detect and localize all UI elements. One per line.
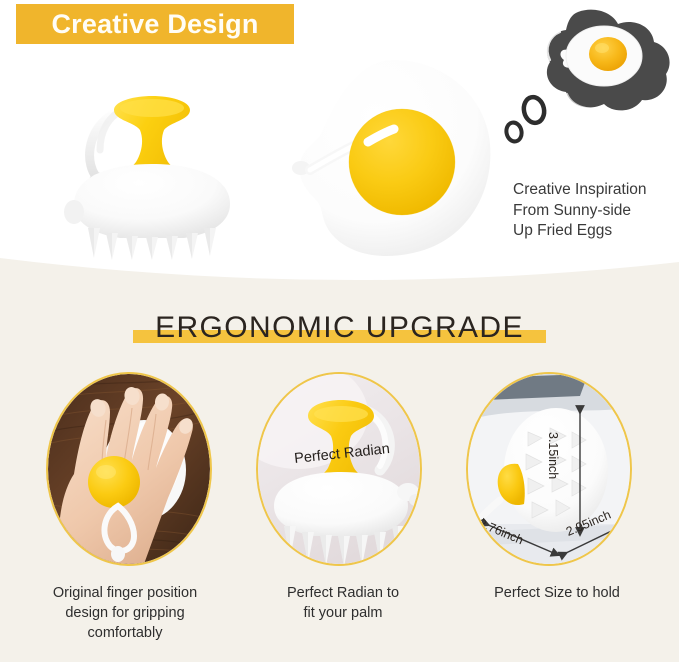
ergonomic-upgrade-title: ERGONOMIC UPGRADE [155,309,524,347]
caption-perfect-size: Perfect Size to hold [452,583,662,603]
feature-card-perfect-size: 3.15inch 2.76inch 2.95inch [466,372,634,568]
caption-line: fit your palm [238,603,448,623]
creative-design-section: Creative Design [0,0,679,300]
infographic-root: Creative Design [0,0,679,662]
caption-line: Perfect Size to hold [452,583,662,603]
caption-finger-grip: Original finger position design for grip… [20,583,230,643]
ergonomic-upgrade-heading: ERGONOMIC UPGRADE [0,303,679,353]
feature-card-perfect-radian: Perfect Radian [256,372,424,568]
scalp-massager-top-view-egg [282,52,508,278]
fried-egg-thought-bubble [498,2,678,162]
feature-captions-row: Original finger position design for grip… [0,583,679,658]
massager-radian-photo [258,374,420,564]
creative-design-badge: Creative Design [16,4,294,44]
feature-circle-perfect-radian: Perfect Radian [256,372,422,566]
inspiration-line-1: Creative Inspiration [513,180,678,201]
caption-perfect-radian: Perfect Radian to fit your palm [238,583,448,623]
feature-card-finger-grip [46,372,214,568]
creative-inspiration-caption: Creative Inspiration From Sunny-side Up … [513,180,678,242]
hand-gripping-massager-photo [48,374,210,564]
caption-line: Perfect Radian to [238,583,448,603]
caption-line: comfortably [20,623,230,643]
caption-line: design for gripping [20,603,230,623]
feature-circle-perfect-size: 3.15inch 2.76inch 2.95inch [466,372,632,566]
inspiration-line-2: From Sunny-side [513,201,678,222]
dimension-height-label: 3.15inch [546,432,560,479]
feature-circle-finger-grip [46,372,212,566]
inspiration-line-3: Up Fried Eggs [513,221,678,242]
caption-line: Original finger position [20,583,230,603]
scalp-massager-side-view [52,70,252,260]
feature-circles-row: Perfect Radian [0,372,679,572]
creative-design-badge-label: Creative Design [51,11,258,38]
